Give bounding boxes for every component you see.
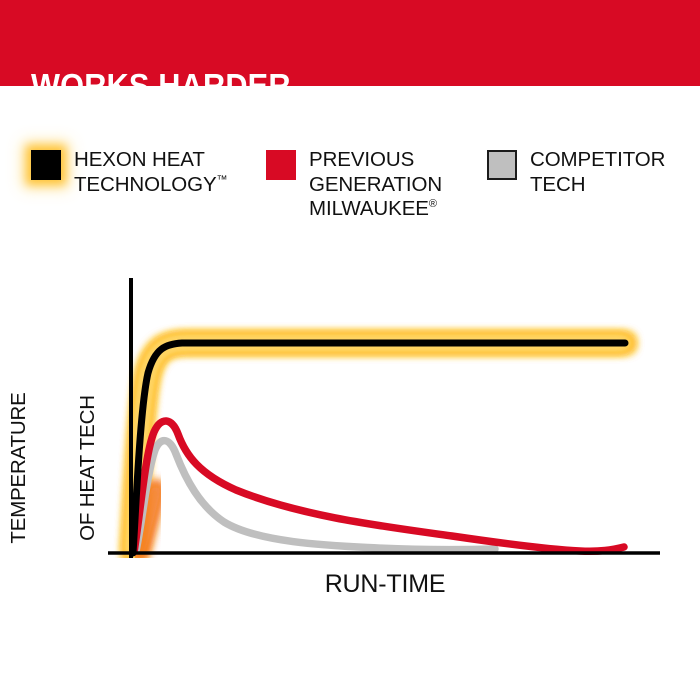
legend-label-competitor: COMPETITORTECH: [530, 148, 665, 197]
y-axis-label: TEMPERATURE OF HEAT TECH: [0, 353, 145, 583]
legend-label-previous: PREVIOUSGENERATIONMILWAUKEE®: [309, 148, 442, 222]
x-axis-label: RUN-TIME: [300, 570, 470, 599]
legend-label-previous-line-2: GENERATION: [309, 173, 442, 196]
legend-label-competitor-line-2: TECH: [530, 173, 585, 196]
chart-legend: HEXON HEATTECHNOLOGY™ PREVIOUSGENERATION…: [0, 148, 700, 258]
y-axis-label-line-2: OF HEAT TECH: [76, 353, 99, 583]
legend-label-hexon-line-2: TECHNOLOGY: [74, 173, 217, 196]
hexon-curve-glow: [133, 343, 625, 553]
legend-swatch-hexon-icon: [31, 150, 61, 180]
header-banner: WORKS HARDER IN FREEZING TEMPS: [0, 0, 700, 86]
hexon-curve-glow-inner: [133, 343, 625, 553]
trademark-symbol-hexon: ™: [217, 174, 228, 186]
legend-label-previous-line-1: PREVIOUS: [309, 148, 414, 171]
page-title-line-1: WORKS HARDER: [31, 70, 343, 102]
y-axis-label-line-1: TEMPERATURE: [7, 353, 30, 583]
legend-swatch-previous-icon: [266, 150, 296, 180]
legend-label-hexon-line-1: HEXON HEAT: [74, 148, 205, 171]
legend-label-competitor-line-1: COMPETITOR: [530, 148, 665, 171]
previous-generation-curve: [134, 421, 624, 552]
legend-swatch-competitor-icon: [487, 150, 517, 180]
legend-label-previous-line-3: MILWAUKEE: [309, 197, 429, 220]
legend-label-hexon: HEXON HEATTECHNOLOGY™: [74, 148, 227, 197]
line-chart: TEMPERATURE OF HEAT TECH RUN-TIME: [0, 258, 700, 618]
registered-symbol-milwaukee: ®: [429, 198, 437, 210]
hexon-heat-technology-curve: [133, 343, 625, 553]
